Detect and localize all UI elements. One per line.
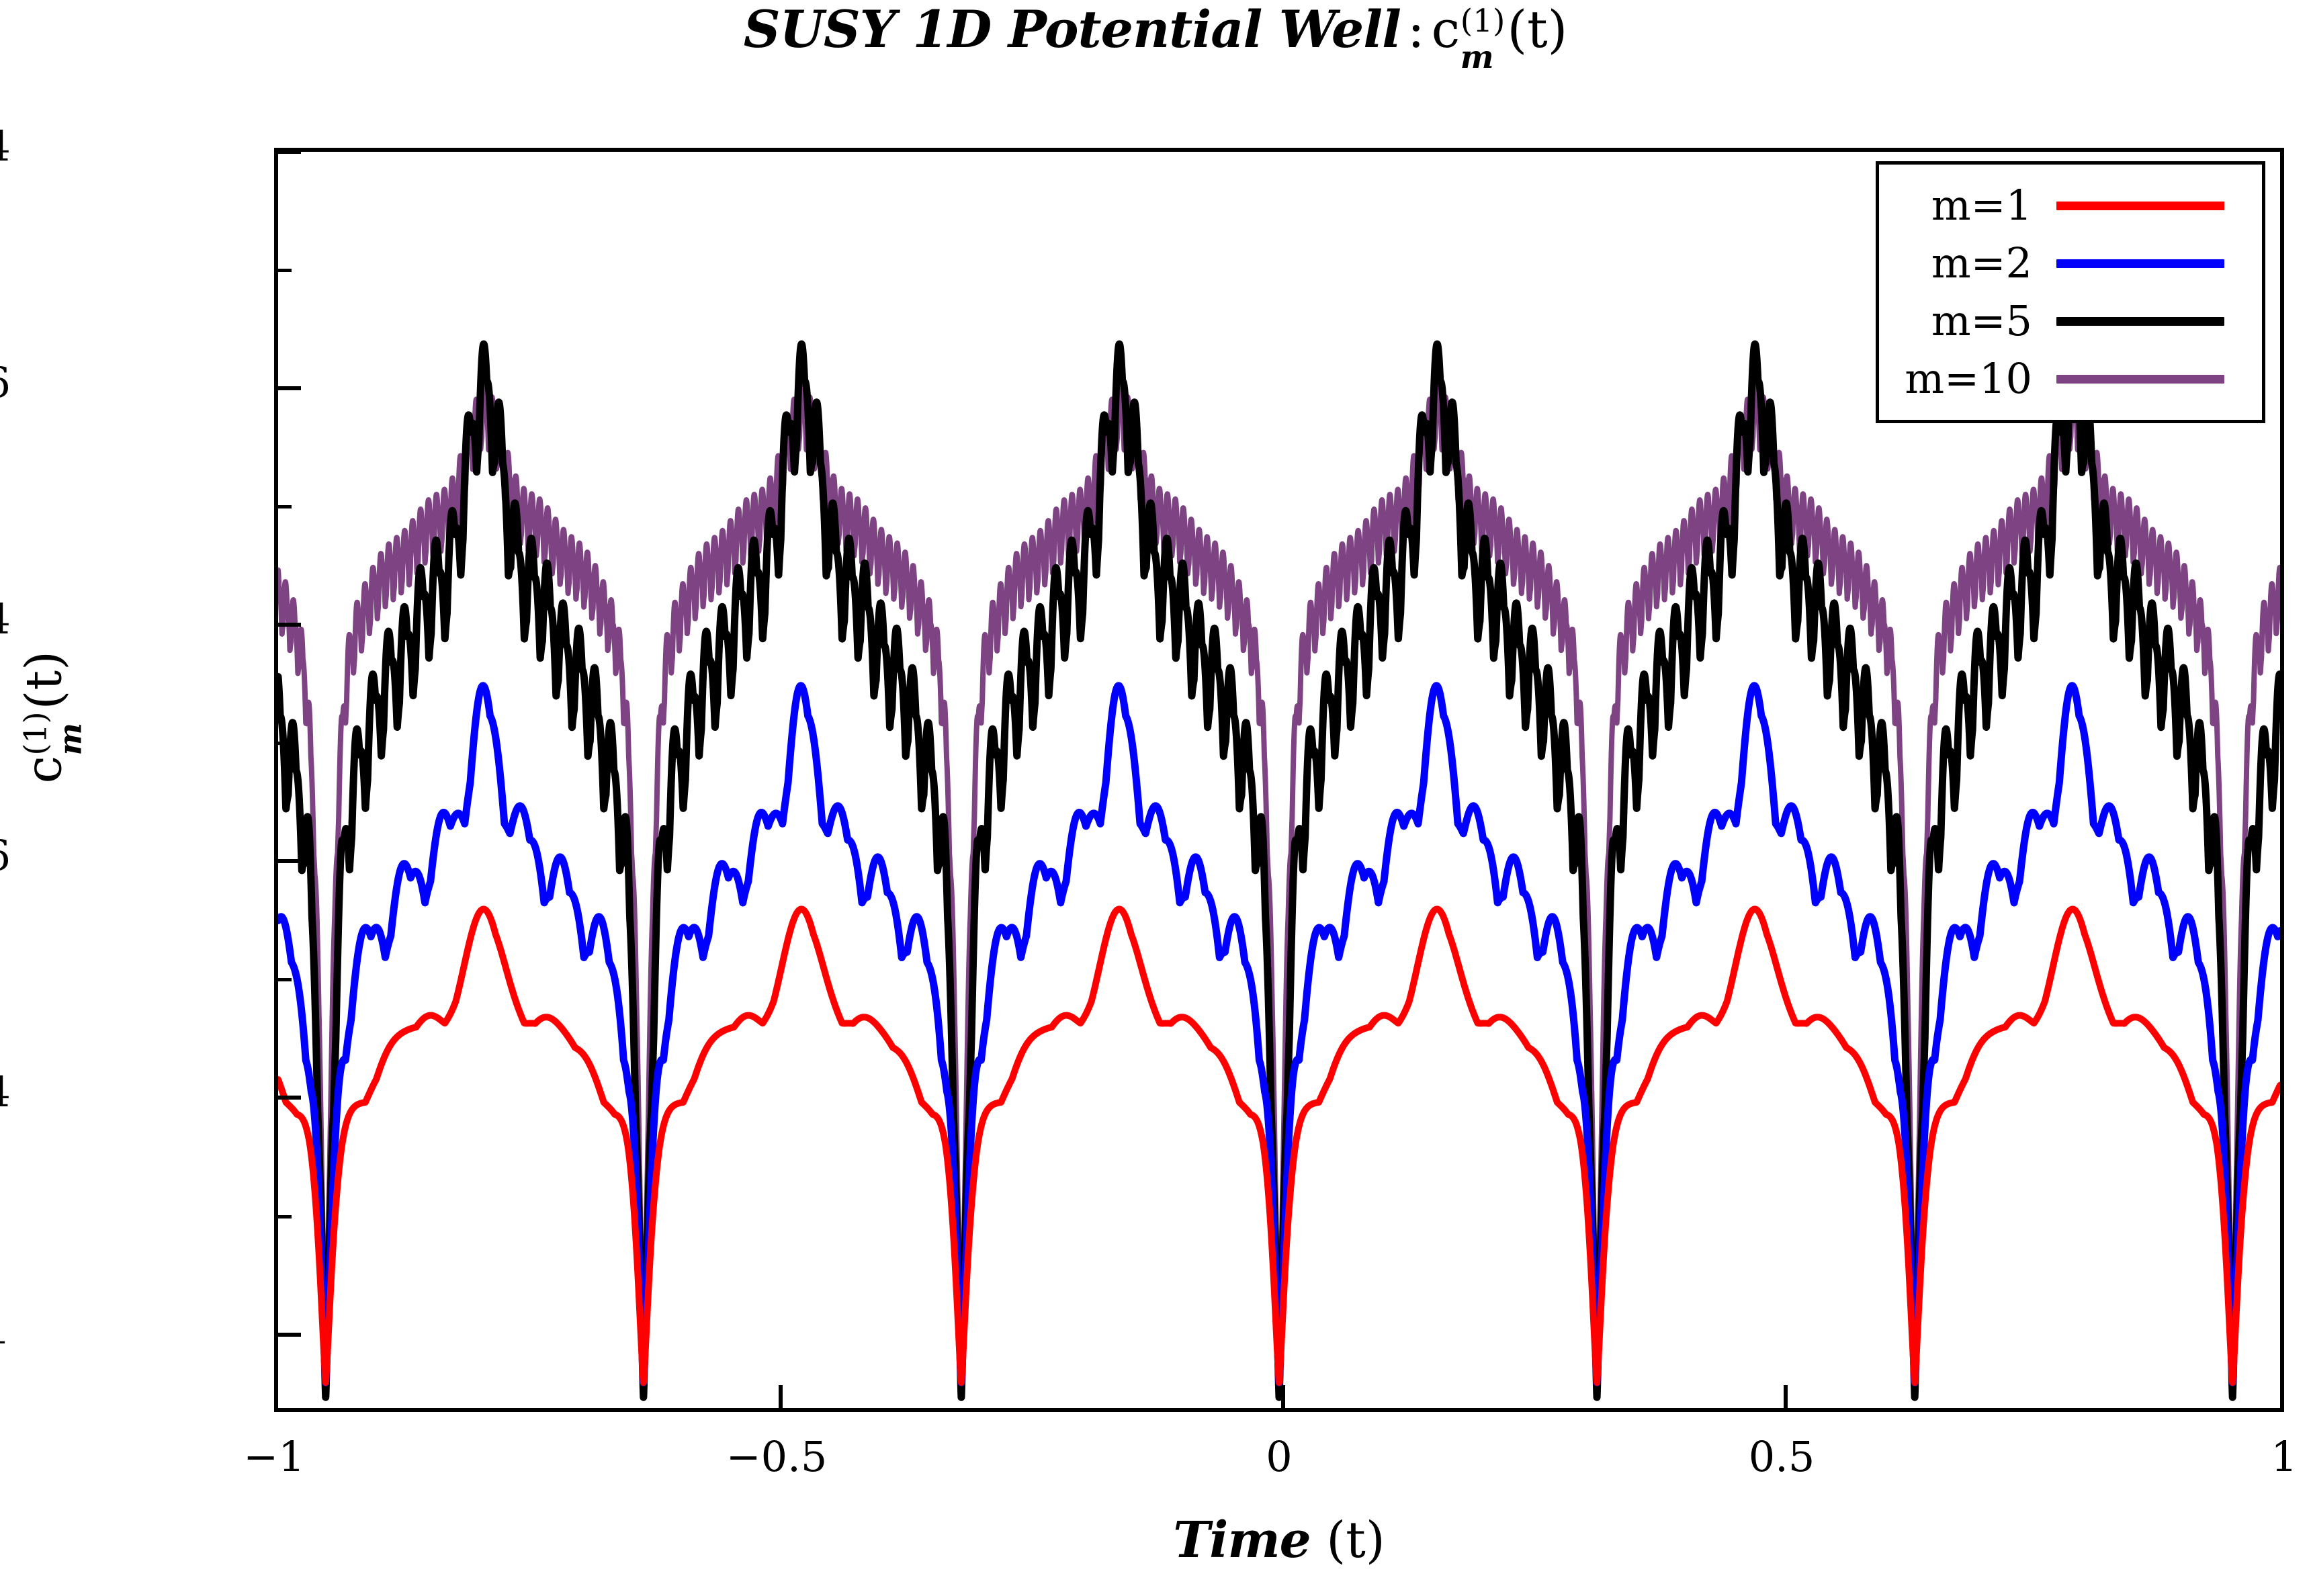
y-axis-symbol-argument: (t): [15, 651, 73, 709]
x-tick-label: 1: [2271, 1436, 2297, 1478]
y-axis-title: c(1)m(t): [15, 482, 92, 952]
y-tick-label: 64: [0, 598, 11, 640]
x-tick-label: −1: [243, 1436, 304, 1478]
y-axis-tick: [278, 623, 301, 627]
y-axis-tick: [278, 386, 301, 390]
title-symbol-argument: (t): [1507, 0, 1567, 59]
y-axis-tick: [278, 1333, 301, 1337]
y-axis-minor-tick: [278, 505, 292, 508]
title-symbol-subscript: m: [1460, 43, 1494, 72]
y-tick-label: 1: [0, 1309, 11, 1350]
y-axis-minor-tick: [278, 742, 292, 745]
page-title: SUSY 1D Potential Well:c(1)m(t): [0, 4, 2311, 81]
y-axis-symbol-base: c: [15, 756, 73, 783]
legend-color-swatch: [2056, 317, 2224, 326]
y-axis-minor-tick: [278, 269, 292, 272]
title-symbol-base: c: [1432, 0, 1460, 59]
legend-item-label: m=1: [1902, 185, 2056, 226]
legend-item[interactable]: m=2: [1879, 234, 2262, 292]
y-tick-label: 16: [0, 835, 11, 877]
y-axis-tick: [278, 1096, 301, 1100]
title-symbol: c(1)m(t): [1432, 4, 1568, 81]
y-tick-label: 1024: [0, 126, 11, 167]
series-line-m10: [278, 388, 2280, 1387]
legend-item-label: m=10: [1902, 358, 2056, 400]
x-tick-label: −0.5: [726, 1436, 828, 1478]
x-tick-label: 0: [1266, 1436, 1292, 1478]
legend-item[interactable]: m=5: [1879, 292, 2262, 350]
legend-item[interactable]: m=1: [1879, 177, 2262, 234]
x-axis-tick: [779, 1385, 783, 1408]
legend-item-label: m=2: [1902, 242, 2056, 284]
y-axis-tick: [278, 150, 301, 154]
y-axis-minor-tick: [278, 978, 292, 981]
x-tick-label: 0.5: [1749, 1436, 1815, 1478]
legend-color-swatch: [2056, 259, 2224, 268]
legend: m=1 m=2 m=5 m=10: [1876, 161, 2265, 423]
y-axis-title-symbol: c(1)m(t): [15, 651, 92, 783]
y-axis-symbol-subscript: m: [56, 723, 84, 756]
x-axis-tick: [1281, 1385, 1285, 1408]
title-symbol-superscript: (1): [1460, 7, 1506, 36]
title-separator: :: [1401, 0, 1432, 59]
legend-item-label: m=5: [1902, 300, 2056, 342]
y-axis-symbol-superscript: (1): [21, 711, 49, 755]
title-main-text: SUSY 1D Potential Well: [744, 0, 1401, 59]
x-axis-tick: [1784, 1385, 1788, 1408]
y-axis-minor-tick: [278, 1215, 292, 1218]
y-tick-label: 4: [0, 1071, 11, 1113]
legend-color-swatch: [2056, 375, 2224, 384]
x-axis-title-bold: Time: [1173, 1511, 1311, 1569]
x-axis-title: Time (t): [274, 1511, 2284, 1569]
legend-color-swatch: [2056, 202, 2224, 210]
x-axis-title-unit: (t): [1326, 1511, 1385, 1569]
legend-item[interactable]: m=10: [1879, 350, 2262, 408]
y-axis-tick: [278, 859, 301, 863]
y-tick-label: 256: [0, 362, 11, 404]
